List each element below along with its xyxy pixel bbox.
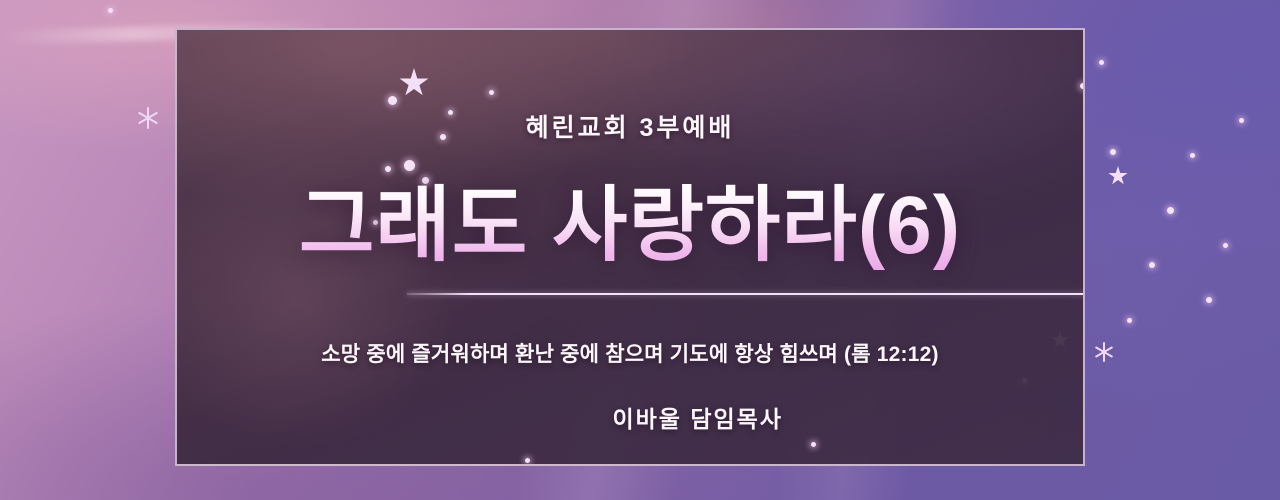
glow-dot-icon xyxy=(1239,118,1244,123)
glow-dot-icon xyxy=(108,8,113,13)
glow-dot-icon xyxy=(385,166,391,172)
speaker-name: 이바울 담임목사 xyxy=(612,400,783,434)
six-point-sparkle-icon xyxy=(1094,342,1114,362)
glow-dot-icon xyxy=(1127,318,1132,323)
glow-dot-icon xyxy=(404,160,415,171)
glow-dot-icon xyxy=(1167,207,1174,214)
content-frame-panel: 혜린교회 3부예배 그래도 사랑하라(6) 소망 중에 즐거워하며 환난 중에 … xyxy=(175,28,1085,466)
glow-dot-icon xyxy=(1110,149,1116,155)
glow-dot-icon xyxy=(489,90,494,95)
sermon-title-slide: 혜린교회 3부예배 그래도 사랑하라(6) 소망 중에 즐거워하며 환난 중에 … xyxy=(0,0,1280,500)
glow-dot-icon xyxy=(1149,262,1155,268)
scripture-verse: 소망 중에 즐거워하며 환난 중에 참으며 기도에 항상 힘쓰며 (롬 12:1… xyxy=(177,338,1083,368)
glow-dot-icon xyxy=(388,96,397,105)
glow-dot-icon xyxy=(811,442,816,447)
glow-dot-icon xyxy=(1206,297,1212,303)
church-service-label: 혜린교회 3부예배 xyxy=(177,108,1083,144)
glow-dot-icon xyxy=(1099,60,1104,65)
sermon-title: 그래도 사랑하라(6) xyxy=(177,182,1083,271)
glow-dot-icon xyxy=(1190,153,1195,158)
glow-dot-icon xyxy=(1223,243,1228,248)
glow-dot-icon xyxy=(525,458,530,463)
five-point-star-icon xyxy=(399,68,429,98)
title-underline-rule xyxy=(407,293,1085,295)
six-point-sparkle-icon xyxy=(137,107,159,129)
glow-dot-icon xyxy=(1080,83,1085,89)
